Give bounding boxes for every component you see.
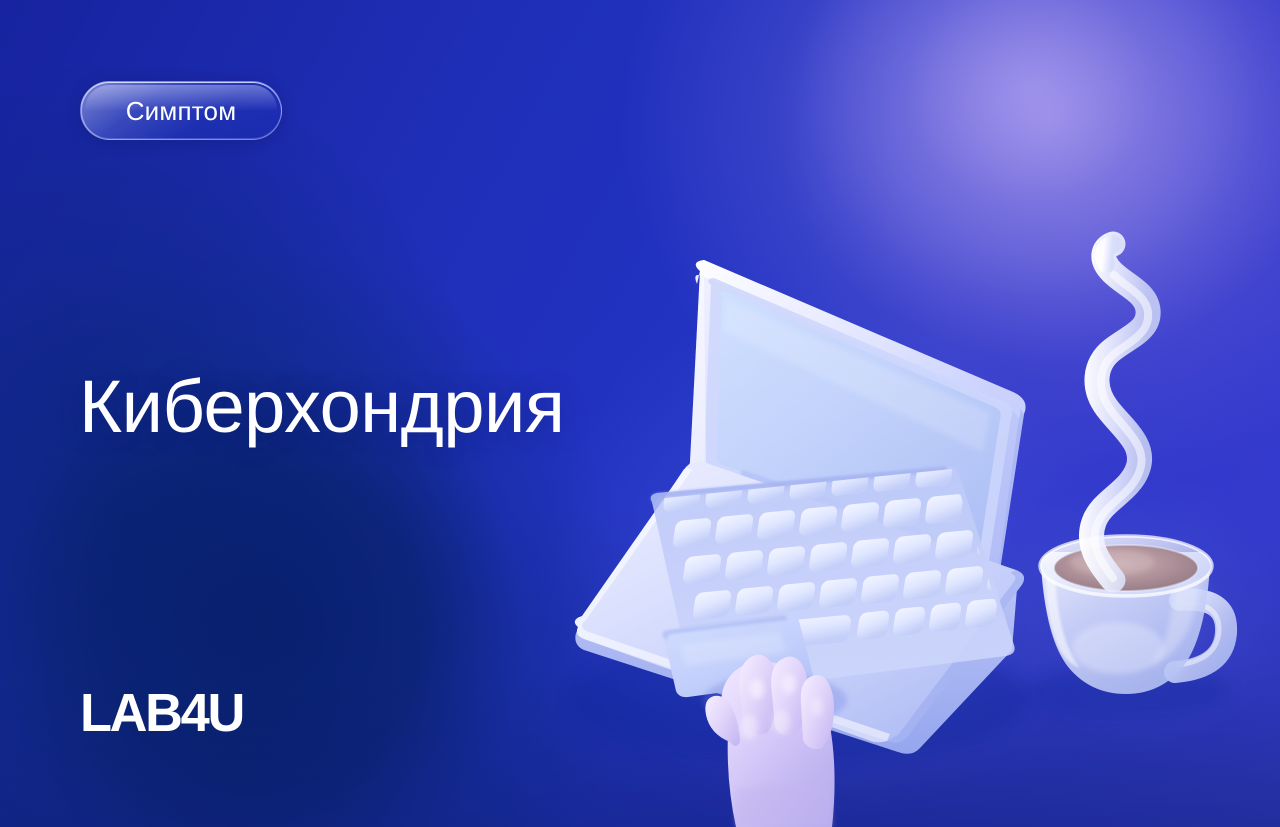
page-title: Киберхондрия (79, 366, 564, 447)
cup-ambient-glow (1000, 470, 1280, 750)
promo-banner: Симптом Киберхондрия LAB4U (0, 0, 1280, 827)
brand-logo[interactable]: LAB4U (80, 686, 243, 740)
background-violet-glow-inner (800, 0, 1260, 300)
symptom-badge-label: Симптом (126, 98, 237, 124)
symptom-badge[interactable]: Симптом (80, 81, 282, 140)
